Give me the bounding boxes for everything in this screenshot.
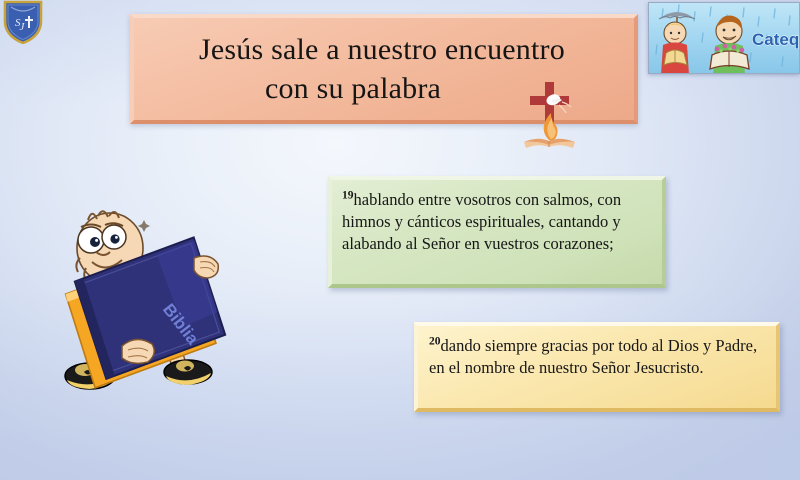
catequesis-banner-image: Cateques: [648, 2, 800, 74]
boy-carrying-bible-illustration: Biblia: [48, 206, 234, 396]
verse-19-number: 19: [342, 190, 354, 202]
school-crest-logo: S J: [2, 0, 44, 44]
verse-20-body: dando siempre gracias por todo al Dios y…: [429, 336, 757, 377]
verse-box-20: 20dando siempre gracias por todo al Dios…: [414, 322, 780, 412]
title-line-1: Jesús sale a nuestro encuentro: [134, 30, 630, 69]
verse-19-text: 19hablando entre vosotros con salmos, co…: [342, 189, 652, 255]
cross-dove-flame-book-icon: [518, 80, 582, 152]
verse-19-body: hablando entre vosotros con salmos, con …: [342, 190, 621, 253]
verse-20-text: 20dando siempre gracias por todo al Dios…: [429, 335, 766, 379]
catequesis-caption: Cateques: [752, 30, 800, 49]
presentation-slide: S J Jesús sale a nuestro encuentro con s…: [0, 0, 800, 480]
verse-20-number: 20: [429, 336, 441, 348]
slide-title-banner: Jesús sale a nuestro encuentro con su pa…: [130, 14, 638, 124]
verse-box-19: 19hablando entre vosotros con salmos, co…: [328, 176, 666, 288]
